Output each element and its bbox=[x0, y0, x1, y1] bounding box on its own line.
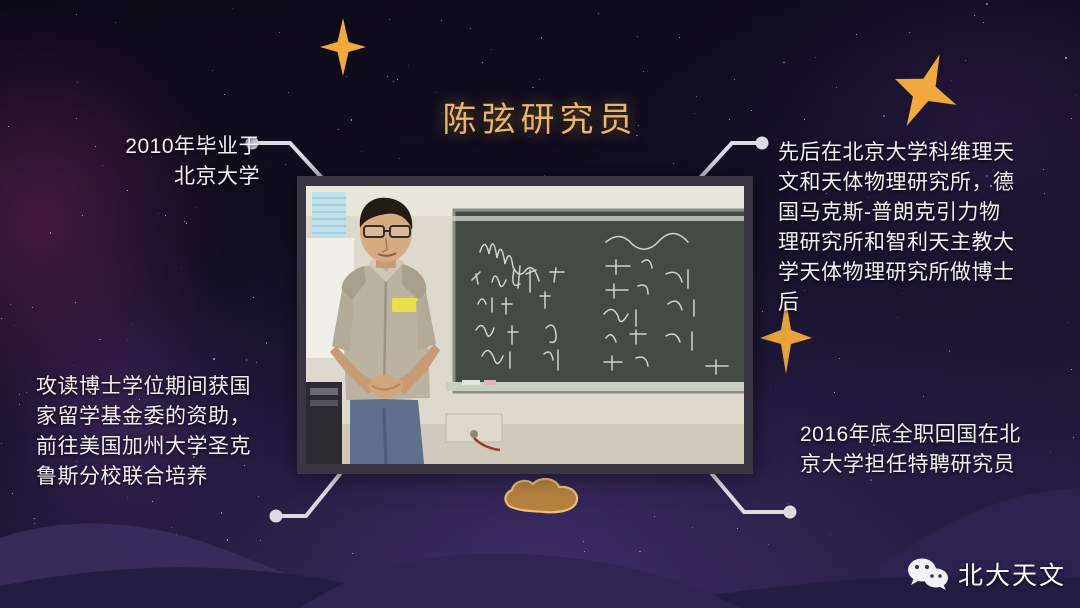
photo-frame bbox=[297, 176, 753, 474]
caption-top-left: 2010年毕业于 北京大学 bbox=[28, 132, 260, 192]
caption-bottom-left: 攻读博士学位期间获国家留学基金委的资助，前往美国加州大学圣克鲁斯分校联合培养 bbox=[36, 372, 268, 492]
wechat-account-name: 北大天文 bbox=[958, 556, 1066, 592]
caption-bottom-right: 2016年底全职回国在北京大学担任特聘研究员 bbox=[800, 420, 1030, 480]
slide-canvas: 陈弦研究员 bbox=[0, 0, 1080, 608]
cloud-shape-decoration bbox=[500, 478, 584, 514]
lecture-photo bbox=[306, 186, 744, 464]
wechat-icon bbox=[907, 557, 949, 591]
four-point-star-top-center-icon bbox=[320, 18, 366, 76]
caption-top-right: 先后在北京大学科维理天文和天体物理研究所，德国马克斯-普朗克引力物理研究所和智利… bbox=[778, 138, 1018, 318]
wechat-account-badge: 北大天文 bbox=[907, 556, 1066, 592]
